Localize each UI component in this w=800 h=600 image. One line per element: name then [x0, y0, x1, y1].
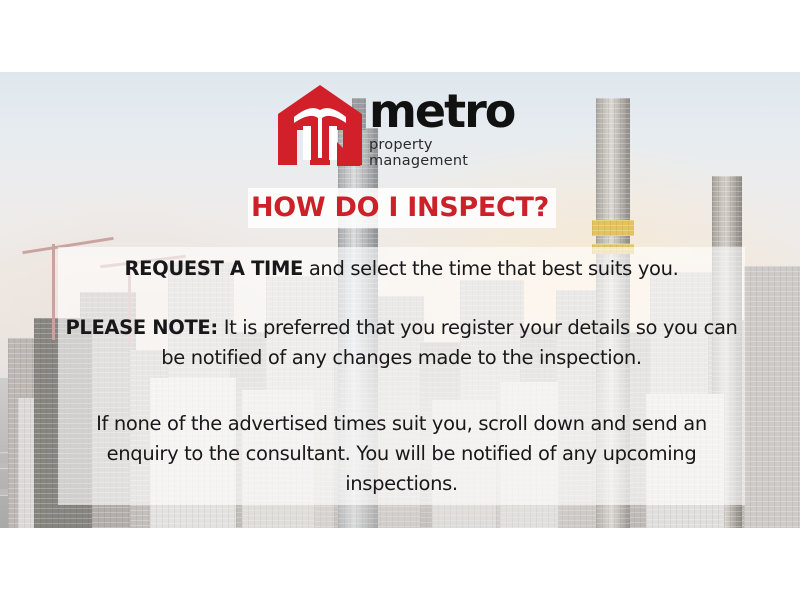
crane-mast — [52, 244, 55, 340]
brand-tagline: property management — [369, 137, 529, 169]
request-a-time-emphasis: REQUEST A TIME — [125, 257, 303, 280]
page-title: HOW DO I INSPECT? — [0, 193, 800, 223]
brand-name: metro — [369, 86, 529, 136]
brand-wordmark: metro property management — [369, 86, 529, 169]
instruction-paragraph-3: If none of the advertised times suit you… — [60, 409, 743, 499]
paragraph-1-rest: and select the time that best suits you. — [303, 257, 678, 280]
building — [744, 266, 800, 528]
paragraph-2-rest: It is preferred that you register your d… — [161, 316, 737, 369]
please-note-emphasis: PLEASE NOTE: — [65, 316, 217, 339]
instruction-paragraph-1: REQUEST A TIME and select the time that … — [60, 254, 743, 284]
slide-canvas: metro property management HOW DO I INSPE… — [0, 0, 800, 600]
metro-house-m-logo-icon — [277, 84, 363, 166]
instruction-paragraph-2: PLEASE NOTE: It is preferred that you re… — [60, 313, 743, 373]
brand-logo: metro property management — [277, 84, 527, 166]
